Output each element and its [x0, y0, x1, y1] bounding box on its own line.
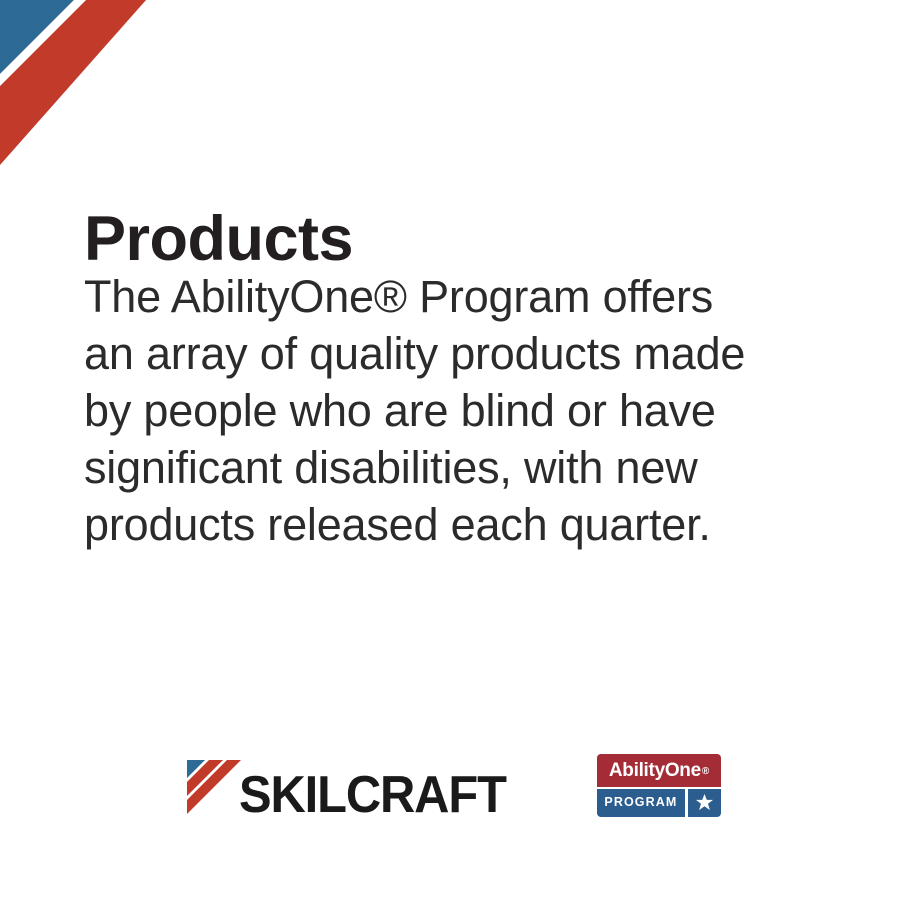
body-paragraph: The AbilityOne® Program offers an array …: [84, 268, 784, 553]
body-line: significant disabilities, with new: [84, 439, 784, 496]
abilityone-logo: AbilityOne® PROGRAM: [597, 754, 721, 817]
abilityone-name: AbilityOne®: [609, 761, 709, 780]
abilityone-star-block: [688, 789, 721, 817]
skilcraft-wordmark: SKILCRAFT: [239, 770, 506, 821]
body-line: The AbilityOne® Program offers: [84, 268, 784, 325]
body-line: products released each quarter.: [84, 496, 784, 553]
abilityone-program-label: PROGRAM: [604, 796, 677, 809]
body-line: by people who are blind or have: [84, 382, 784, 439]
products-promo-card: Products The AbilityOne® Program offers …: [0, 0, 900, 900]
abilityone-program-block: PROGRAM: [597, 789, 685, 817]
page-title: Products: [84, 208, 353, 271]
body-line: an array of quality products made: [84, 325, 784, 382]
corner-stripe-red-band: [0, 12, 74, 86]
abilityone-name-block: AbilityOne®: [597, 754, 721, 787]
logo-bar: SKILCRAFT AbilityOne® PROGRAM: [0, 735, 900, 835]
registered-trademark-icon: ®: [702, 766, 709, 777]
star-icon: [695, 793, 714, 812]
corner-stripe-white-gap-1: [0, 0, 86, 86]
skilcraft-stripes-icon: [179, 744, 245, 821]
corner-stripe-red-inner: [0, 0, 146, 146]
corner-stripe-white-gap-2: [46, 85, 138, 165]
skilcraft-logo: SKILCRAFT: [179, 749, 523, 821]
corner-stripe-red-band-2: [0, 0, 146, 165]
corner-stripe-blue: [0, 0, 74, 74]
abilityone-program-row: PROGRAM: [597, 789, 721, 817]
